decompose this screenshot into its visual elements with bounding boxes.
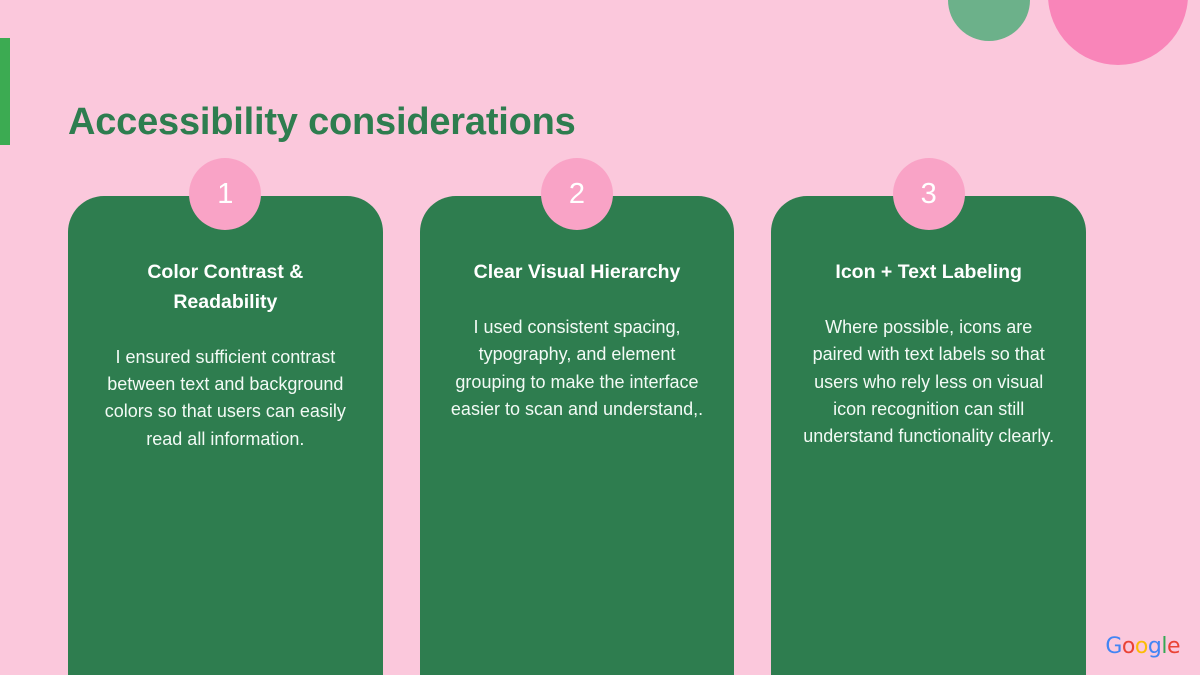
slide-canvas: Accessibility considerations 1 Color Con… bbox=[0, 0, 1200, 675]
google-logo-letter-2: o bbox=[1135, 634, 1148, 659]
card-number-badge-2: 2 bbox=[541, 158, 613, 230]
card-color-contrast: 1 Color Contrast & Readability I ensured… bbox=[68, 196, 383, 675]
card-body-1: I ensured sufficient contrast between te… bbox=[94, 344, 357, 453]
page-title: Accessibility considerations bbox=[68, 101, 576, 144]
title-accent-bar bbox=[0, 38, 10, 145]
card-icon-text-labeling: 3 Icon + Text Labeling Where possible, i… bbox=[771, 196, 1086, 675]
google-logo-letter-5: e bbox=[1167, 634, 1180, 659]
google-logo-letter-1: o bbox=[1122, 634, 1135, 659]
google-logo: Google bbox=[1105, 636, 1180, 658]
card-number-badge-1: 1 bbox=[189, 158, 261, 230]
google-logo-letter-3: g bbox=[1148, 634, 1161, 659]
decorative-circle-pink bbox=[1048, 0, 1188, 65]
card-title-3: Icon + Text Labeling bbox=[797, 258, 1060, 288]
decorative-circle-green bbox=[948, 0, 1030, 41]
google-logo-letter-0: G bbox=[1105, 634, 1122, 659]
card-number-badge-3: 3 bbox=[893, 158, 965, 230]
cards-container: 1 Color Contrast & Readability I ensured… bbox=[68, 196, 1086, 675]
card-title-1: Color Contrast & Readability bbox=[94, 258, 357, 318]
card-body-3: Where possible, icons are paired with te… bbox=[797, 314, 1060, 451]
card-body-2: I used consistent spacing, typography, a… bbox=[446, 314, 709, 423]
card-visual-hierarchy: 2 Clear Visual Hierarchy I used consiste… bbox=[420, 196, 735, 675]
card-title-2: Clear Visual Hierarchy bbox=[446, 258, 709, 288]
